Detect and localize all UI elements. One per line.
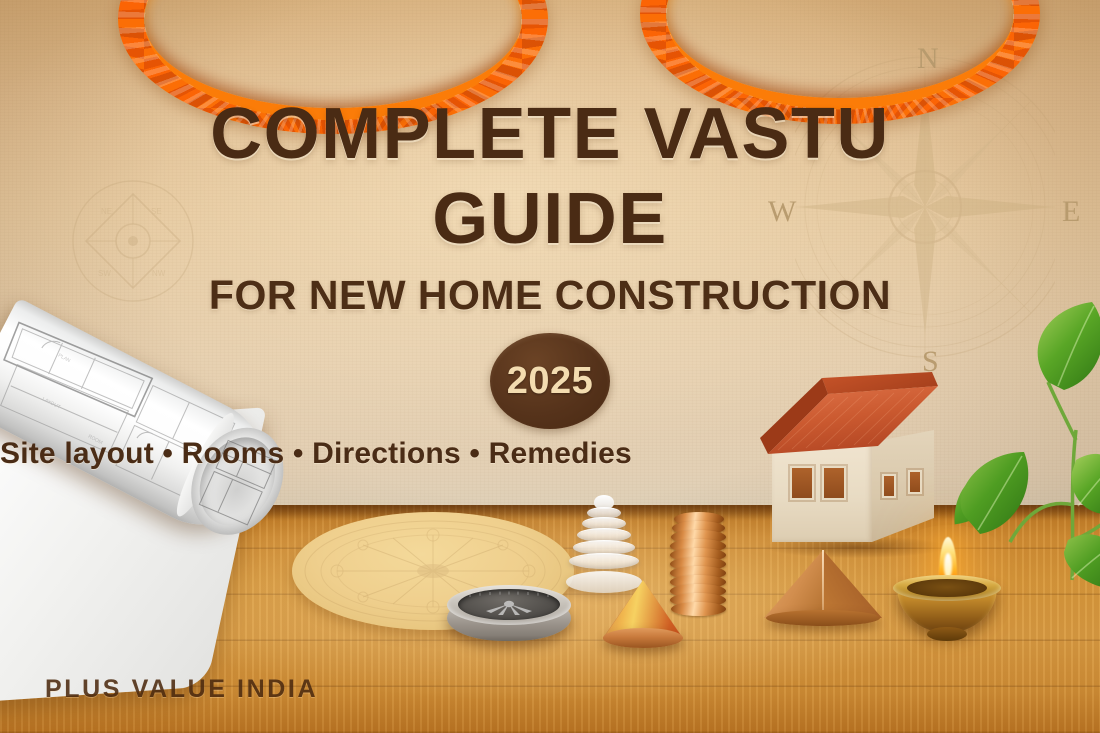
page-title-line-2: GUIDE: [0, 183, 1100, 255]
compass-dial: [458, 589, 560, 620]
brand-name: PLUS VALUE INDIA: [45, 675, 318, 704]
feature-tagline: Site layout • Rooms • Directions • Remed…: [0, 437, 1100, 471]
copper-spiral: [668, 512, 730, 618]
compass-instrument: [447, 585, 571, 647]
cone-base: [603, 628, 683, 648]
copper-pyramid: [764, 550, 882, 626]
house-window: [822, 466, 846, 500]
vastu-guide-poster: N E S W NE SE SW NW: [0, 0, 1100, 733]
yantra-layer: [569, 553, 639, 569]
house-window: [790, 466, 814, 500]
house-window: [908, 470, 922, 494]
pyramid-right-face: [823, 550, 882, 618]
year-badge: 2025: [490, 333, 610, 429]
pyramid-edge: [822, 550, 824, 618]
pyramid-left-face: [764, 550, 823, 618]
shree-yantra-crystal: [564, 495, 644, 593]
spiral-coil: [671, 602, 726, 616]
svg-text:LAYOUT: LAYOUT: [41, 396, 61, 410]
house-window: [882, 474, 896, 498]
year-badge-label: 2025: [507, 360, 594, 403]
pyramid-base: [766, 610, 880, 626]
page-subtitle: FOR NEW HOME CONSTRUCTION: [0, 275, 1100, 316]
blueprint-rolled-tube: PLAN LAYOUT ROOM: [0, 297, 302, 720]
blueprint-roll: PLAN LAYOUT ROOM: [0, 305, 330, 705]
compass-north-label: N: [917, 42, 939, 76]
page-title-line-1: COMPLETE VASTU: [0, 98, 1100, 170]
svg-text:PLAN: PLAN: [57, 353, 72, 365]
diya-foot: [927, 627, 967, 641]
